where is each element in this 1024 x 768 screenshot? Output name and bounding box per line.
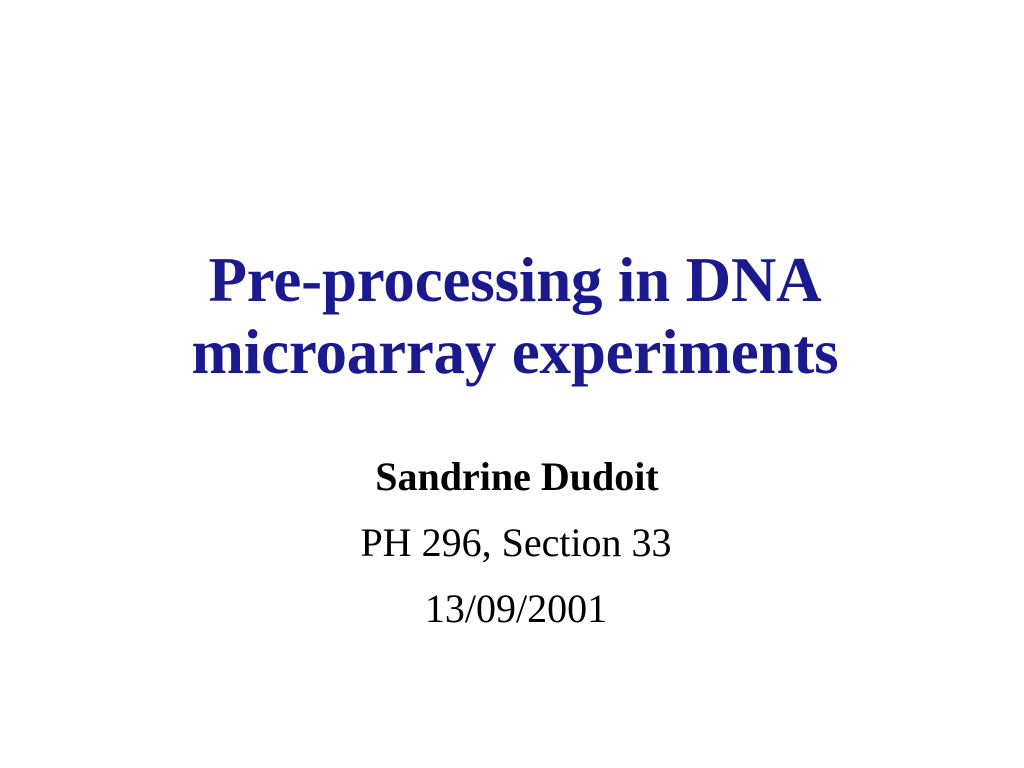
presenter-name: Sandrine Dudoit <box>10 444 1024 510</box>
title-line-2: microarray experiments <box>6 316 1024 388</box>
presentation-date: 13/09/2001 <box>8 576 1024 642</box>
presentation-slide: Pre-processing in DNA microarray experim… <box>0 0 1024 768</box>
slide-subtitle: Sandrine Dudoit PH 296, Section 33 13/09… <box>0 444 1024 642</box>
course-label: PH 296, Section 33 <box>8 510 1024 576</box>
slide-title: Pre-processing in DNA microarray experim… <box>0 244 1024 388</box>
title-line-1: Pre-processing in DNA <box>6 244 1024 316</box>
